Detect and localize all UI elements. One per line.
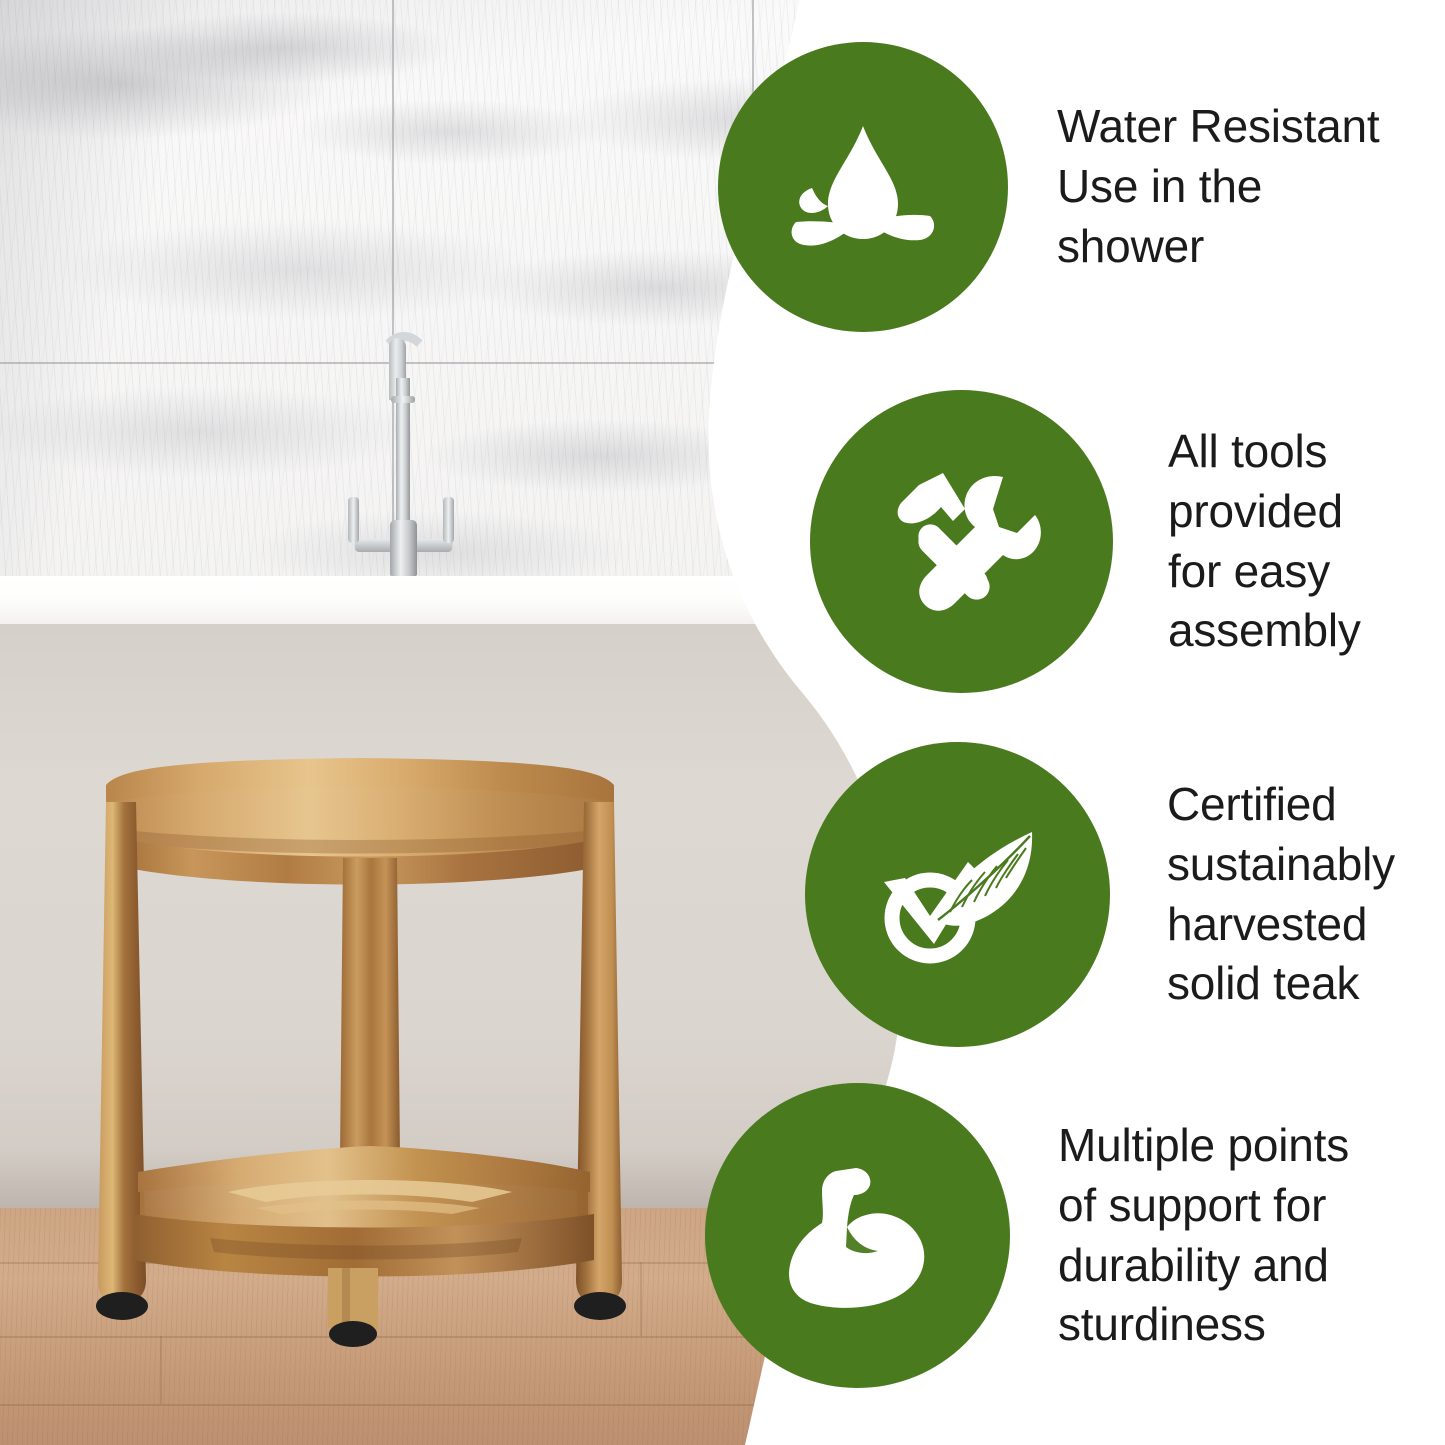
teak-corner-shower-stool (60, 740, 660, 1380)
faucet-ring (391, 396, 415, 403)
water-drop-splash-icon (718, 42, 1008, 332)
leaf-checkmark-icon (805, 742, 1110, 1047)
feature-label: Water Resistant Use in the shower (1057, 97, 1380, 276)
feature-certified-teak: Certified sustainably harvested solid te… (805, 742, 1395, 1047)
hammer-wrench-icon (810, 390, 1113, 693)
faucet-handle-left (348, 497, 359, 543)
faucet-base (390, 520, 417, 576)
tile-grout-line (392, 0, 394, 600)
product-feature-infographic: Water Resistant Use in the shower All to… (0, 0, 1445, 1445)
feature-multiple-support-points: Multiple points of support for durabilit… (705, 1083, 1349, 1388)
feature-water-resistant: Water Resistant Use in the shower (718, 42, 1380, 332)
feature-label: Multiple points of support for durabilit… (1058, 1116, 1349, 1355)
faucet-handle-right (443, 497, 454, 543)
tile-grout-line (0, 362, 1000, 364)
faucet-valve-bar-left (355, 539, 395, 552)
feature-label: Certified sustainably harvested solid te… (1167, 775, 1395, 1014)
flexed-bicep-icon (705, 1083, 1010, 1388)
feature-label: All tools provided for easy assembly (1168, 422, 1361, 661)
feature-tools-provided: All tools provided for easy assembly (810, 390, 1361, 693)
